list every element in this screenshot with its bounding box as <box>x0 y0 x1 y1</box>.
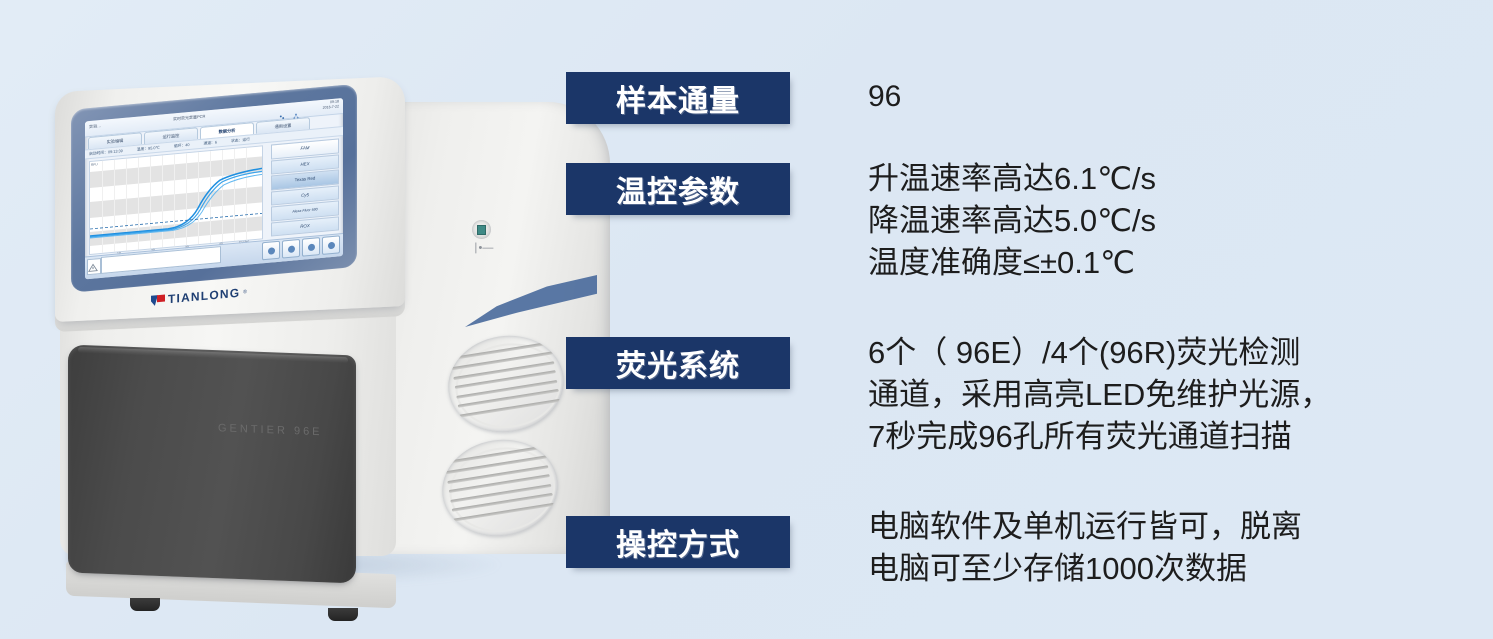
product-spec-panel: ∣•— <box>0 0 1493 639</box>
brand-logo: TIANLONG ® <box>151 285 247 308</box>
amplification-curves <box>90 146 262 254</box>
spec-badge-sample-throughput: 样本通量 <box>566 72 790 124</box>
network-icon <box>279 107 285 114</box>
screen-clock-date: 2016-7-22 <box>323 104 339 109</box>
save-button[interactable] <box>302 237 320 257</box>
spec-badge-control-mode: 操控方式 <box>566 516 790 568</box>
instrument-foot-right <box>328 608 358 621</box>
warning-icon <box>87 258 101 275</box>
usb-icon: ∣•— <box>473 243 493 254</box>
brand-name: TIANLONG <box>168 286 240 307</box>
screen-title-center: 实时荧光定量PCR <box>173 114 205 123</box>
status-led-icon <box>472 220 491 239</box>
amplification-plot[interactable]: RFU <box>89 145 263 255</box>
instrument-body: ∣•— <box>60 92 550 547</box>
registered-mark: ® <box>243 289 247 295</box>
touchscreen[interactable]: 实验... 实时荧光定量PCR 09:18 2016-7-22 <box>85 98 343 279</box>
settings-button[interactable] <box>322 235 340 255</box>
model-label: GENTIER 96E <box>218 422 323 438</box>
zoom-in-button[interactable] <box>262 241 280 261</box>
infobar-status: 状态：运行 <box>231 137 250 144</box>
spec-badge-temperature-control: 温控参数 <box>566 163 790 215</box>
screen-bezel: 实验... 实时荧光定量PCR 09:18 2016-7-22 <box>71 84 357 293</box>
instrument-foot-left <box>130 598 160 611</box>
sample-door[interactable]: GENTIER 96E <box>68 344 356 583</box>
infobar-cycles: 循环：40 <box>174 142 190 148</box>
head-plate: 实验... 实时荧光定量PCR 09:18 2016-7-22 <box>55 76 405 322</box>
screen-title-left: 实验... <box>89 123 101 130</box>
tianlong-mark-icon <box>151 294 165 306</box>
infobar-temperature: 温度：95.0℃ <box>137 145 160 153</box>
screen-clock: 09:18 2016-7-22 <box>323 99 339 110</box>
spec-value-sample-throughput: 96 <box>868 76 1488 118</box>
spec-value-control-mode: 电脑软件及单机运行皆可，脱离 电脑可至少存储1000次数据 <box>868 506 1488 590</box>
spec-value-temperature-control: 升温速率高达6.1℃/s 降温速率高达5.0℃/s 温度准确度≤±0.1℃ <box>868 158 1488 284</box>
spec-badge-fluorescence-system: 荧光系统 <box>566 337 790 389</box>
product-photo: ∣•— <box>0 0 560 639</box>
spec-value-fluorescence-system: 6个（ 96E）/4个(96R)荧光检测 通道，采用高亮LED免维护光源， 7秒… <box>868 332 1488 458</box>
zoom-out-button[interactable] <box>282 239 300 259</box>
spec-list: 样本通量 96 温控参数 升温速率高达6.1℃/s 降温速率高达5.0℃/s 温… <box>566 0 1493 639</box>
share-icon <box>293 106 299 113</box>
infobar-channels: 通道：6 <box>203 140 217 146</box>
infobar-start-time: 启动时间：09:13:39 <box>89 149 123 157</box>
